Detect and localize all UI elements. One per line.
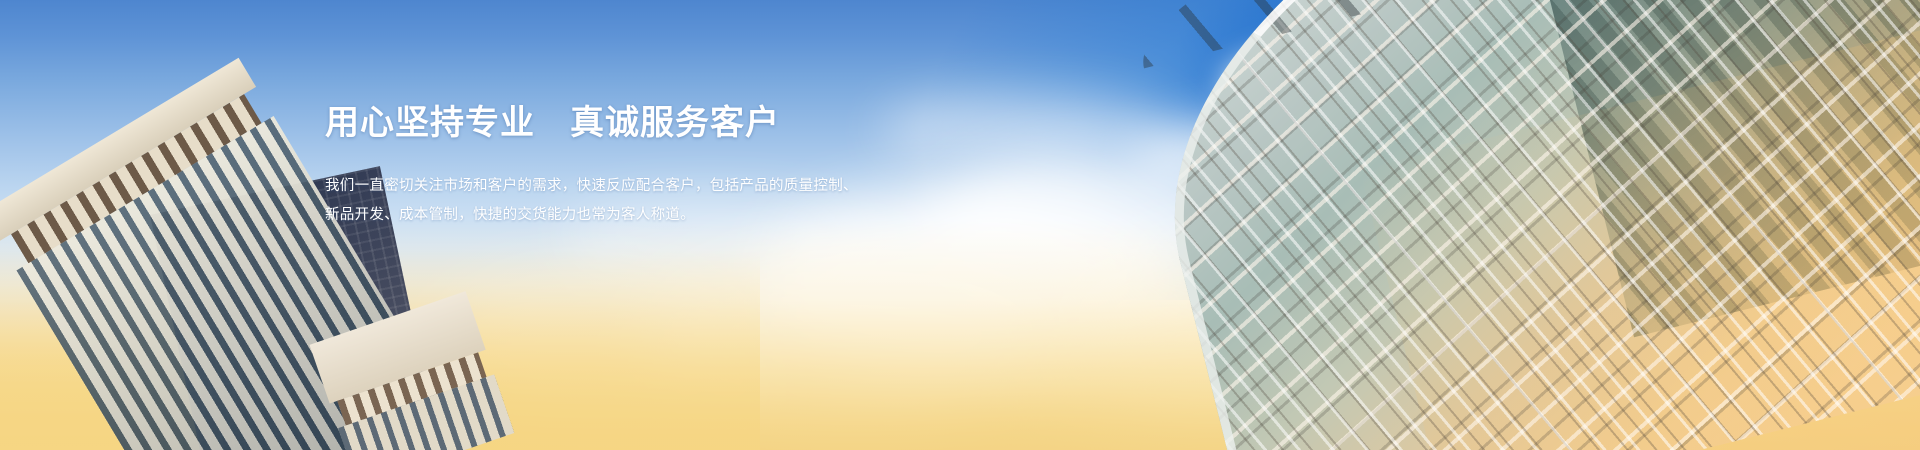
banner-subcopy-line-2: 新品开发、成本管制，快捷的交货能力也常为客人称道。	[325, 201, 1025, 230]
curved-glass-tower	[1060, 0, 1920, 450]
hero-banner: 用心坚持专业 真诚服务客户 我们一直密切关注市场和客户的需求，快速反应配合客户，…	[0, 0, 1920, 450]
banner-copy-block: 用心坚持专业 真诚服务客户 我们一直密切关注市场和客户的需求，快速反应配合客户，…	[325, 103, 1025, 230]
glass-tower-edge-rim	[1100, 0, 1920, 450]
banner-headline: 用心坚持专业 真诚服务客户	[325, 103, 1025, 144]
banner-subcopy: 我们一直密切关注市场和客户的需求，快速反应配合客户，包括产品的质量控制、 新品开…	[325, 172, 1025, 230]
banner-subcopy-line-1: 我们一直密切关注市场和客户的需求，快速反应配合客户，包括产品的质量控制、	[325, 172, 1025, 201]
